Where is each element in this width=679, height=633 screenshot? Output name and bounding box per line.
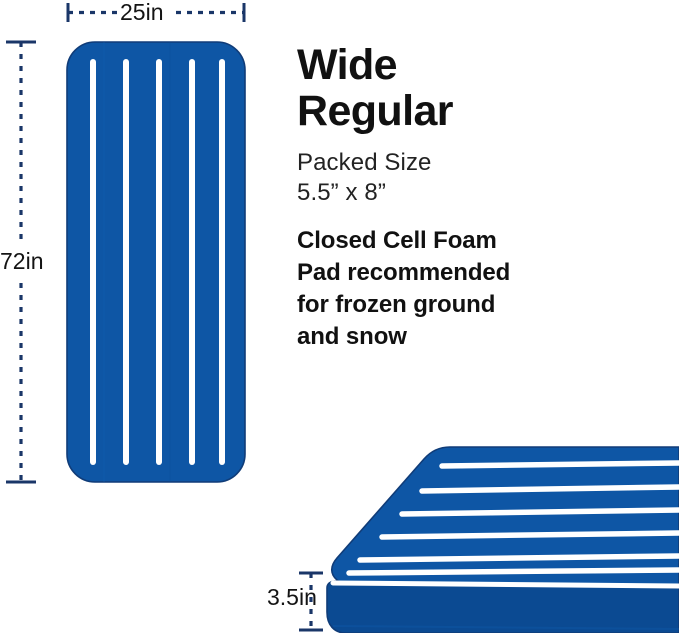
product-info-panel: Wide Regular Packed Size 5.5” x 8” Close…	[297, 42, 627, 353]
recommendation-text: Closed Cell Foam Pad recommended for fro…	[297, 225, 627, 353]
packed-size-label: Packed Size	[297, 148, 627, 178]
pad-seam-highlight	[333, 583, 679, 586]
width-dimension-label: 25in	[120, 1, 163, 24]
pad-side-face	[327, 581, 679, 633]
product-dimension-diagram: 25in 72in 3.5in Wide Regular Packed Size…	[0, 0, 679, 633]
sleeping-pad-top-view	[67, 42, 245, 482]
product-title: Wide Regular	[297, 42, 627, 134]
height-dimension-label: 3.5in	[267, 586, 317, 609]
length-dimension-label: 72in	[0, 250, 43, 273]
sleeping-pad-perspective-view	[327, 447, 679, 633]
packed-size-value: 5.5” x 8”	[297, 178, 627, 208]
